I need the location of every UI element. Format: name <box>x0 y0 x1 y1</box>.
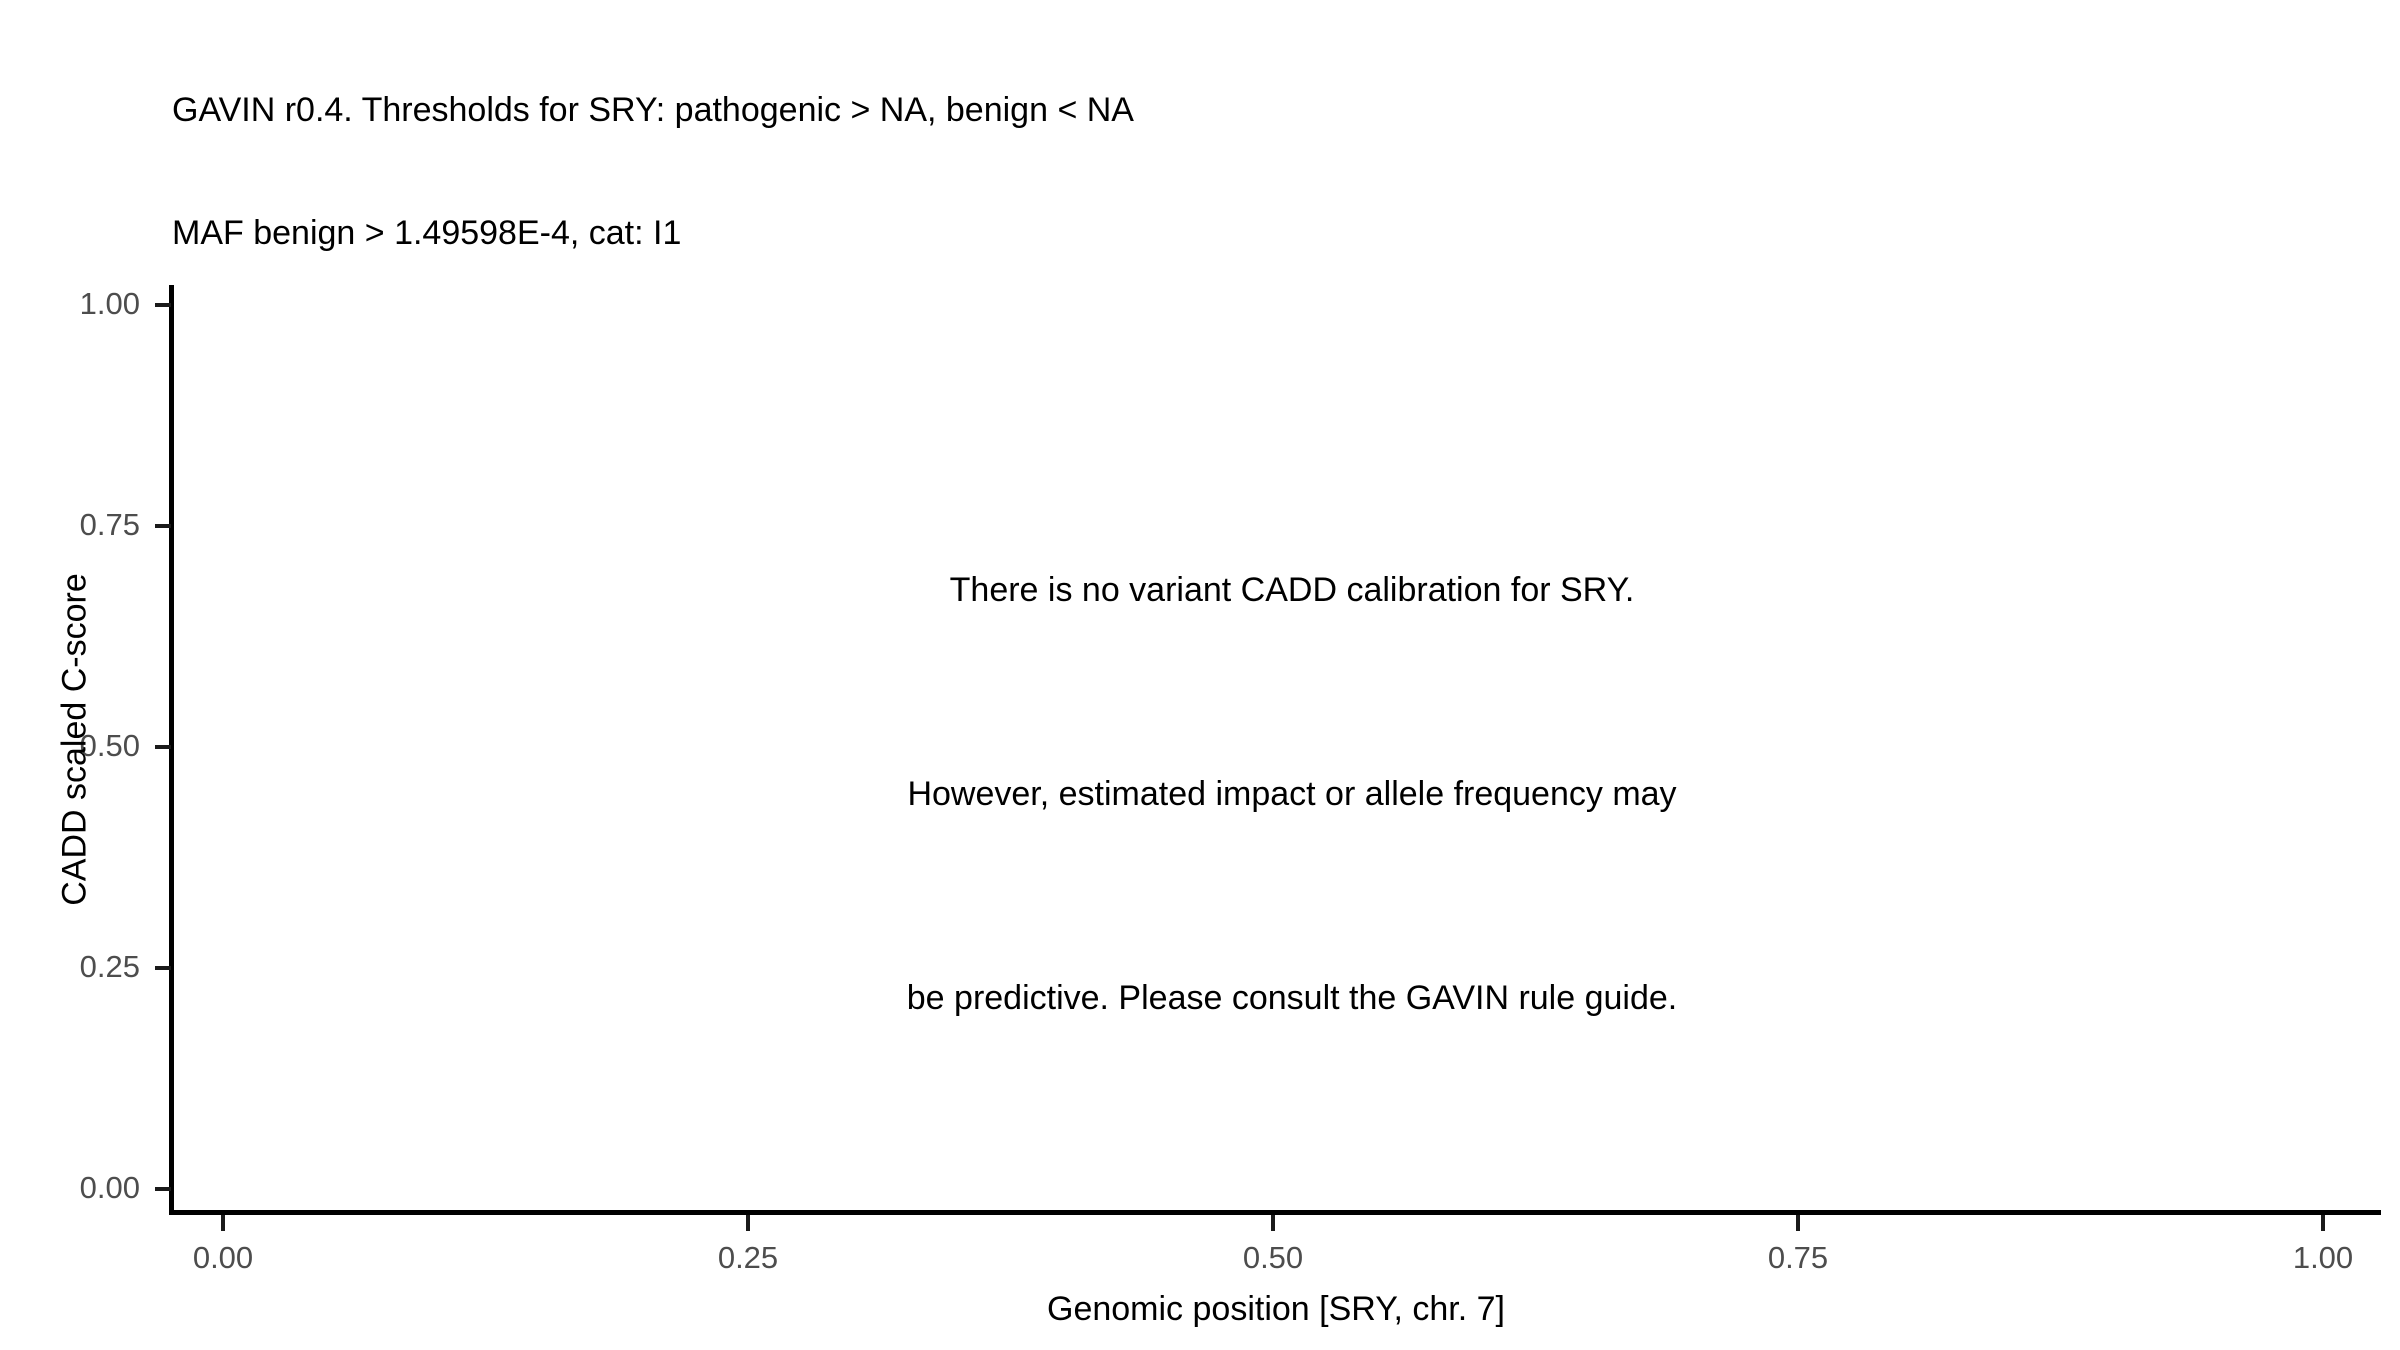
y-axis-tick-3 <box>155 524 171 528</box>
x-axis-tick-label-2: 0.50 <box>1173 1240 1373 1276</box>
x-axis-tick-4 <box>2321 1215 2325 1231</box>
x-axis-tick-label-1: 0.25 <box>648 1240 848 1276</box>
y-axis-tick-2 <box>155 745 171 749</box>
chart-canvas: GAVIN r0.4. Thresholds for SRY: pathogen… <box>0 0 2400 1350</box>
y-axis-title: CADD scaled C-score <box>56 275 95 1205</box>
y-axis-tick-0 <box>155 1187 171 1191</box>
x-axis-line <box>169 1210 2381 1215</box>
x-axis-tick-label-0: 0.00 <box>123 1240 323 1276</box>
x-axis-title: Genomic position [SRY, chr. 7] <box>172 1290 2380 1329</box>
x-axis-tick-1 <box>746 1215 750 1231</box>
annotation-line-2: However, estimated impact or allele freq… <box>592 760 1992 828</box>
x-axis-tick-3 <box>1796 1215 1800 1231</box>
y-axis-tick-1 <box>155 966 171 970</box>
no-calibration-annotation: There is no variant CADD calibration for… <box>592 420 1992 1168</box>
x-axis-tick-2 <box>1271 1215 1275 1231</box>
chart-title-line-2: MAF benign > 1.49598E-4, cat: I1 <box>172 213 2352 254</box>
x-axis-tick-label-4: 1.00 <box>2223 1240 2400 1276</box>
annotation-line-3: be predictive. Please consult the GAVIN … <box>592 964 1992 1032</box>
x-axis-tick-label-3: 0.75 <box>1698 1240 1898 1276</box>
x-axis-tick-0 <box>221 1215 225 1231</box>
annotation-line-1: There is no variant CADD calibration for… <box>592 556 1992 624</box>
y-axis-line <box>169 285 174 1215</box>
chart-title-line-1: GAVIN r0.4. Thresholds for SRY: pathogen… <box>172 90 2352 131</box>
y-axis-tick-4 <box>155 303 171 307</box>
